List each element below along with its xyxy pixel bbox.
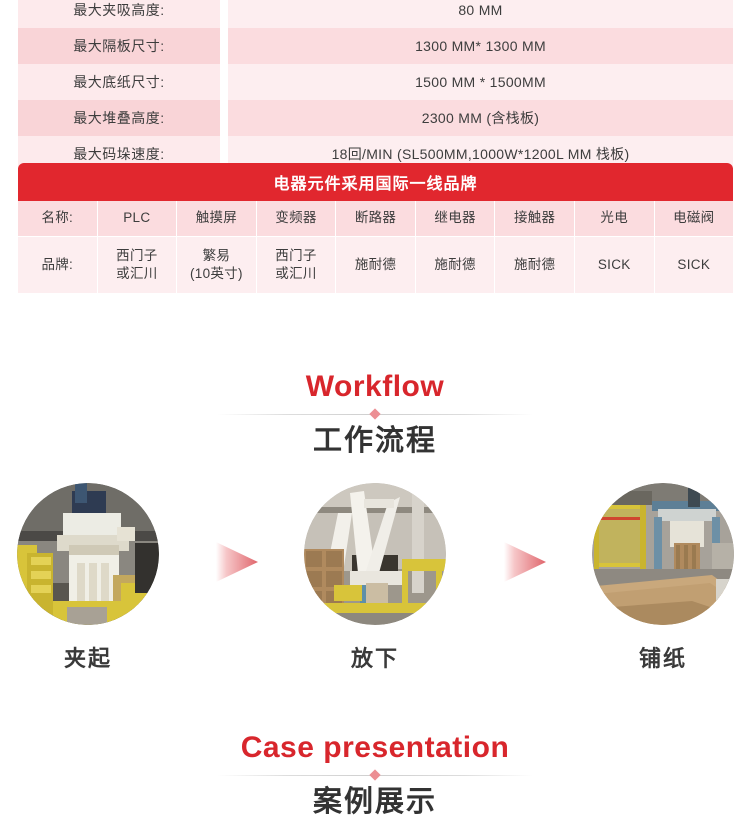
table-cell: 接触器 [495,201,575,237]
table-row: 名称: PLC 触摸屏 变频器 断路器 继电器 接触器 光电 电磁阀 [18,201,733,237]
workflow-step-label: 铺纸 [590,641,736,673]
column-gap [220,64,228,100]
cell-text: 西门子 [275,247,316,265]
workflow-section-title: Workflow 工作流程 [0,370,750,459]
cell-text: 西门子 [116,247,157,265]
column-gap [220,100,228,136]
spec-value: 1500 MM * 1500MM [228,64,733,100]
table-cell: 施耐德 [495,237,575,293]
workflow-step-label: 夹起 [15,641,161,673]
spec-label: 最大底纸尺寸: [18,64,220,100]
cell-text: 触摸屏 [196,209,237,227]
table-cell: PLC [98,201,178,237]
workflow-step: 放下 [302,483,448,673]
column-gap [220,28,228,64]
table-cell: 电磁阀 [655,201,734,237]
table-row: 最大夹吸高度: 80 MM [18,0,733,28]
table-cell: SICK [655,237,734,293]
electrical-components-table: 电器元件采用国际一线品牌 名称: PLC 触摸屏 变频器 断路器 继电器 接触器… [18,163,733,293]
title-divider [217,407,533,421]
table-row: 最大隔板尺寸: 1300 MM* 1300 MM [18,28,733,64]
table-cell: 继电器 [416,201,496,237]
palletizer-machine-photo [17,483,159,625]
cell-text: 繁易 [203,247,231,265]
cell-text: 品牌: [41,256,73,274]
cell-text: SICK [677,256,710,274]
cell-text: 光电 [600,209,628,227]
cell-text: 或汇川 [275,265,316,283]
table-cell: 变频器 [257,201,337,237]
cell-text: 电磁阀 [673,209,714,227]
table-cell: 品牌: [18,237,98,293]
table-cell: SICK [575,237,655,293]
cell-text: 施耐德 [355,256,396,274]
column-gap [220,0,228,28]
spec-value: 1300 MM* 1300 MM [228,28,733,64]
spec-label: 最大堆叠高度: [18,100,220,136]
table-row: 最大堆叠高度: 2300 MM (含栈板) [18,100,733,136]
table-row: 最大底纸尺寸: 1500 MM * 1500MM [18,64,733,100]
workflow-steps: 夹起 [0,483,750,673]
cell-text: 施耐德 [514,256,555,274]
case-section-title: Case presentation 案例展示 [0,731,750,820]
cell-text: (10英寸) [190,265,243,283]
cell-text: 断路器 [355,209,396,227]
product-detail-page: 最大夹吸高度: 80 MM 最大隔板尺寸: 1300 MM* 1300 MM 最… [0,0,750,822]
spec-label: 最大夹吸高度: [18,0,220,28]
table-row: 品牌: 西门子 或汇川 繁易 (10英寸) 西门子 或汇川 施耐德 施耐德 施耐… [18,237,733,293]
section-title-en: Case presentation [0,731,750,764]
diamond-icon [369,769,380,780]
cell-text: 变频器 [275,209,316,227]
table-cell: 施耐德 [336,237,416,293]
table-cell: 施耐德 [416,237,496,293]
workflow-step-label: 放下 [302,641,448,673]
table-cell: 断路器 [336,201,416,237]
spec-table: 最大夹吸高度: 80 MM 最大隔板尺寸: 1300 MM* 1300 MM 最… [18,0,733,172]
section-title-cn: 工作流程 [0,423,750,459]
cell-text: 名称: [41,209,73,227]
table-cell: 光电 [575,201,655,237]
table-cell: 触摸屏 [177,201,257,237]
diamond-icon [369,408,380,419]
table-cell: 西门子 或汇川 [98,237,178,293]
table-cell: 繁易 (10英寸) [177,237,257,293]
cell-text: PLC [123,209,150,227]
table-cell: 西门子 或汇川 [257,237,337,293]
spec-value: 2300 MM (含栈板) [228,100,733,136]
cell-text: 或汇川 [116,265,157,283]
workflow-step: 夹起 [15,483,161,673]
cardboard-sheet-feeder-photo [592,483,734,625]
robot-arm-warehouse-photo [304,483,446,625]
cell-text: 继电器 [434,209,475,227]
spec-label: 最大隔板尺寸: [18,28,220,64]
cell-text: 施耐德 [434,256,475,274]
cell-text: 接触器 [514,209,555,227]
workflow-step: 铺纸 [590,483,736,673]
cell-text: SICK [598,256,631,274]
section-title-en: Workflow [0,370,750,403]
title-divider [217,768,533,782]
section-title-cn: 案例展示 [0,784,750,820]
spec-value: 80 MM [228,0,733,28]
table-cell: 名称: [18,201,98,237]
table-header-banner: 电器元件采用国际一线品牌 [18,163,733,201]
